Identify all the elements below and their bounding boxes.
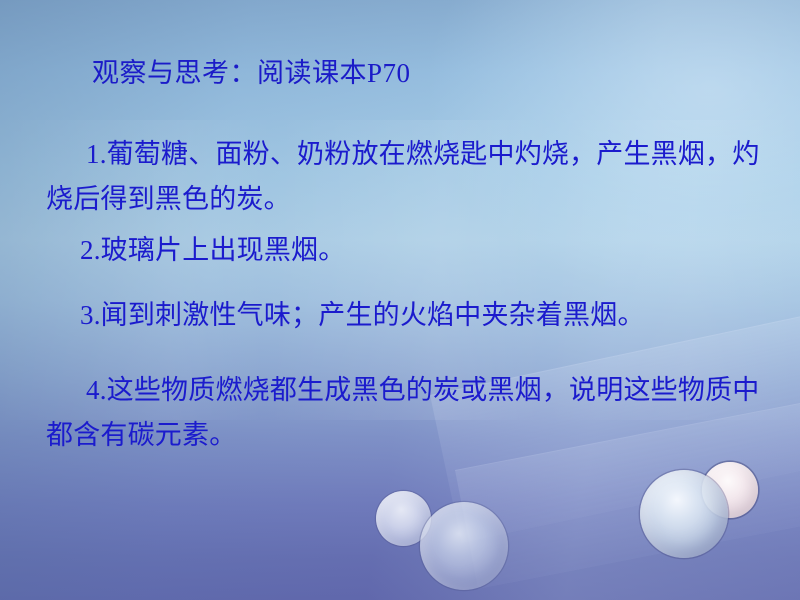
list-item-1-line1: 1.葡萄糖、面粉、奶粉放在燃烧匙中灼烧，产生黑烟， bbox=[46, 139, 732, 169]
list-item-1: 1.葡萄糖、面粉、奶粉放在燃烧匙中灼烧，产生黑烟，灼烧后得到黑色的炭。 bbox=[46, 132, 762, 222]
list-item-4: 4.这些物质燃烧都生成黑色的炭或黑烟，说明这些物质中都含有碳元素。 bbox=[46, 368, 762, 458]
list-item-3: 3.闻到刺激性气味；产生的火焰中夹杂着黑烟。 bbox=[46, 293, 762, 338]
slide-title: 观察与思考：阅读课本P70 bbox=[92, 57, 411, 91]
list-item-2-line1: 2.玻璃片上出现黑烟。 bbox=[46, 235, 345, 265]
presentation-slide: 观察与思考：阅读课本P70 1.葡萄糖、面粉、奶粉放在燃烧匙中灼烧，产生黑烟，灼… bbox=[0, 0, 800, 600]
list-item-2: 2.玻璃片上出现黑烟。 bbox=[46, 228, 762, 273]
list-item-4-line1: 4.这些物质燃烧都生成黑色的炭或黑烟，说明这些物 bbox=[46, 375, 705, 405]
slide-text-layer: 观察与思考：阅读课本P70 1.葡萄糖、面粉、奶粉放在燃烧匙中灼烧，产生黑烟，灼… bbox=[0, 0, 800, 600]
list-item-3-line1: 3.闻到刺激性气味；产生的火焰中夹杂着黑烟。 bbox=[46, 300, 645, 330]
